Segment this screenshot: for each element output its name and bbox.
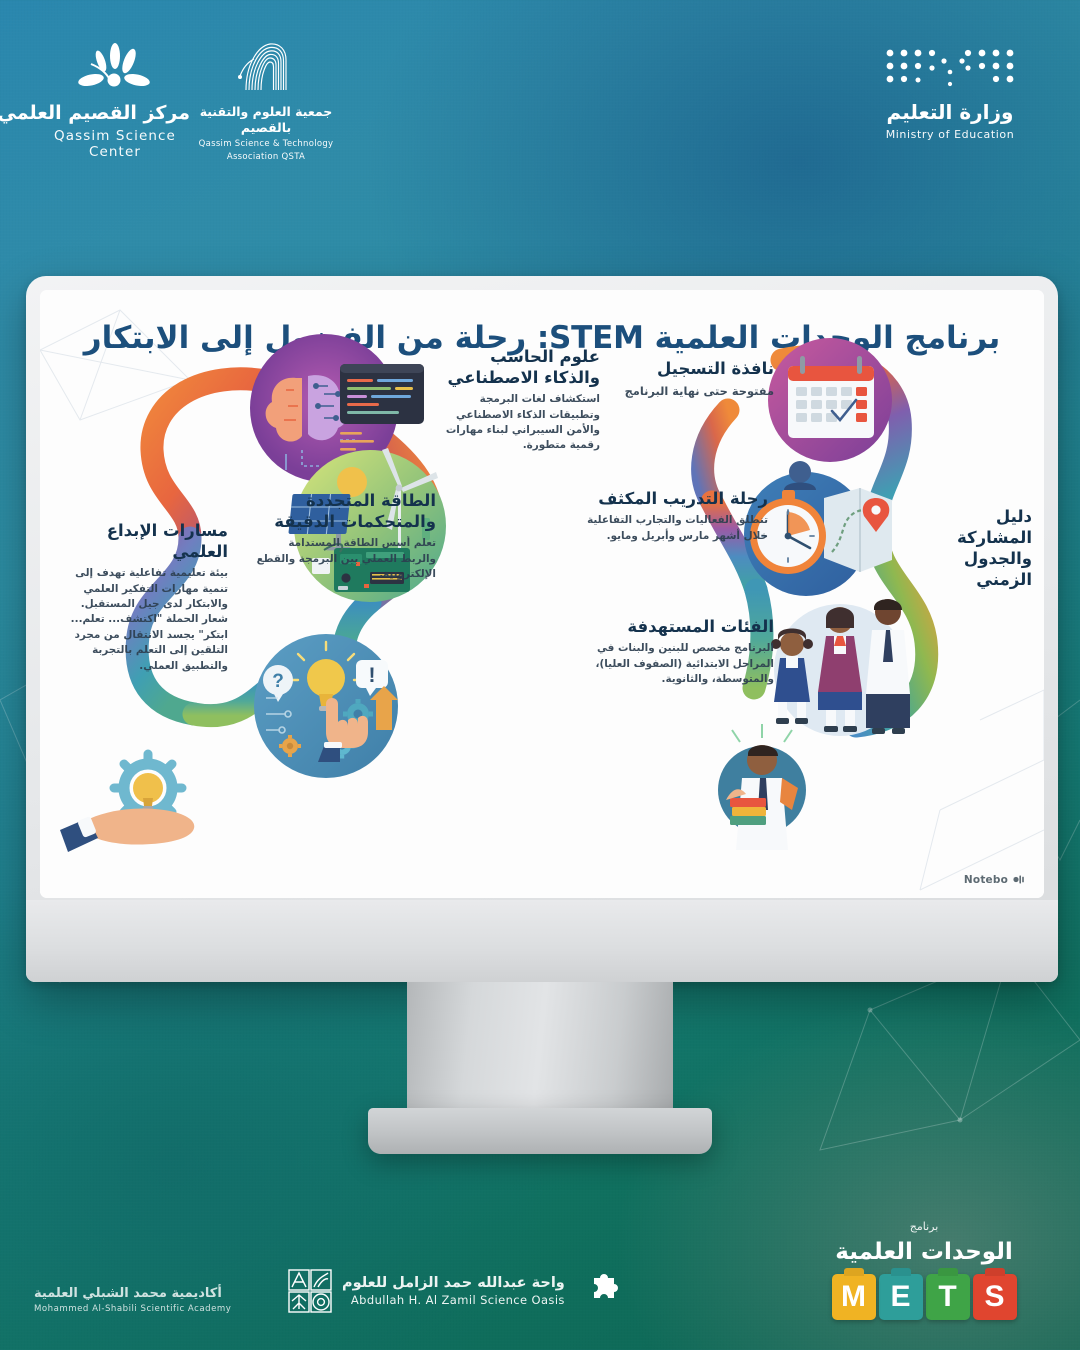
node-computer-science: علوم الحاسب والذكاء الاصطناعي استكشاف لغ… xyxy=(430,346,600,454)
presentation-slide: برنامج الوحدات العلمية STEM: رحلة من الف… xyxy=(40,290,1044,898)
target-groups-heading: الفئات المستهدفة xyxy=(588,616,774,637)
node-renewable-energy: الطاقة المتجددة والمتحكمات الدقيقة تعلم … xyxy=(250,490,436,582)
book-stack xyxy=(730,798,766,825)
svg-text:!: ! xyxy=(369,664,376,687)
computer-science-heading: علوم الحاسب والذكاء الاصطناعي xyxy=(430,346,600,388)
stem-block-s: S xyxy=(973,1274,1017,1320)
node-illustration-student-books xyxy=(718,724,806,850)
training-body: تنطلق الفعاليات والتجارب التفاعلية خلال … xyxy=(560,513,768,544)
header-logo-bar: مركز القصيم العلمي Qassim Science Center… xyxy=(0,0,1080,180)
qsta-label-en: Qassim Science & Technology Association … xyxy=(196,138,336,164)
participation-guide-heading: دليل المشاركة والجدول الزمني xyxy=(920,506,1032,590)
moe-label-ar: وزارة التعليم xyxy=(860,100,1040,125)
monitor-stand-base xyxy=(368,1108,712,1154)
logo-qsta: جمعية العلوم والتقنية بالقصيم Qassim Sci… xyxy=(196,38,336,164)
notebooklm-icon xyxy=(1013,873,1026,886)
qsta-label-ar: جمعية العلوم والتقنية بالقصيم xyxy=(196,104,336,135)
training-heading: رحلة التدريب المكثف xyxy=(560,488,768,509)
target-groups-body: البرنامج مخصص للبنين والبنات في المراحل … xyxy=(588,641,774,687)
svg-text:?: ? xyxy=(272,671,284,692)
notebooklm-label: Notebo xyxy=(964,874,1008,886)
qsc-label-ar: مركز القصيم العلمي xyxy=(40,102,190,126)
monitor-chin xyxy=(26,900,1058,982)
logo-ministry-of-education: وزارة التعليم Ministry of Education xyxy=(860,44,1040,141)
computer-science-body: استكشاف لغات البرمجة وتطبيقات الذكاء الا… xyxy=(430,392,600,454)
qsc-label-en: Qassim Science Center xyxy=(40,128,190,160)
monitor-screen: برنامج الوحدات العلمية STEM: رحلة من الف… xyxy=(40,290,1044,898)
puzzle-piece-icon xyxy=(575,1268,621,1314)
moe-dot-mark xyxy=(880,44,1020,96)
node-creative-paths: مسارات الإبداع العلمي بيئة تعليمية تفاعل… xyxy=(60,520,228,674)
stem-letter-t: T xyxy=(938,1280,956,1314)
renewable-energy-body: تعلم أسس الطاقة المستدامة والربط العملي … xyxy=(250,536,436,582)
oasis-pattern-icon xyxy=(288,1269,332,1313)
logo-zamil-science-oasis: واحة عبدالله حمد الزامل للعلوم Abdullah … xyxy=(288,1268,621,1314)
imac-monitor: برنامج الوحدات العلمية STEM: رحلة من الف… xyxy=(26,276,1058,982)
node-target-groups: الفئات المستهدفة البرنامج مخصص للبنين وا… xyxy=(588,616,774,687)
stem-letter-s: S xyxy=(985,1280,1005,1314)
stem-block-e: E xyxy=(879,1274,923,1320)
qassim-science-center-mark xyxy=(75,42,155,98)
stem-letter-blocks: S T E M xyxy=(804,1274,1044,1320)
stem-block-m: M xyxy=(832,1274,876,1320)
node-illustration-target-groups xyxy=(771,599,910,736)
node-registration-window: نافذة التسجيل مفتوحة حتى نهاية البرنامج xyxy=(606,358,774,400)
creative-paths-body: بيئة تعليمية تفاعلية تهدف إلى تنمية مهار… xyxy=(60,566,228,674)
stem-letter-e: E xyxy=(891,1280,911,1314)
qsta-mark xyxy=(230,38,302,100)
program-name-ar: الوحدات العلمية xyxy=(804,1239,1044,1265)
stem-letter-m: M xyxy=(841,1280,866,1314)
oasis-label-en: Abdullah H. Al Zamil Science Oasis xyxy=(342,1293,565,1307)
node-illustration-registration xyxy=(768,338,892,462)
node-participation-guide: دليل المشاركة والجدول الزمني xyxy=(920,506,1032,590)
creative-paths-heading: مسارات الإبداع العلمي xyxy=(60,520,228,562)
node-intensive-training: رحلة التدريب المكثف تنطلق الفعاليات والت… xyxy=(560,488,768,544)
notebooklm-watermark: Notebo xyxy=(964,873,1026,886)
monitor-stand-neck xyxy=(407,982,673,1110)
stem-block-t: T xyxy=(926,1274,970,1320)
oasis-label-ar: واحة عبدالله حمد الزامل للعلوم xyxy=(342,1275,565,1291)
program-stem-logo: برنامج الوحدات العلمية S T E M xyxy=(804,1220,1044,1320)
node-illustration-innovation-hand xyxy=(60,754,194,852)
calendar-icon xyxy=(788,356,874,438)
map-icon xyxy=(824,488,892,572)
renewable-energy-heading: الطاقة المتجددة والمتحكمات الدقيقة xyxy=(250,490,436,532)
moe-label-en: Ministry of Education xyxy=(860,128,1040,141)
footer-logo-bar: أكاديمية محمد الشبلي العلمية Mohammed Al… xyxy=(0,1150,1080,1350)
program-prefix: برنامج xyxy=(804,1220,1044,1233)
node-illustration-experiential-learning: ? ! xyxy=(254,634,398,778)
logo-qassim-science-center: مركز القصيم العلمي Qassim Science Center xyxy=(40,42,190,160)
registration-body: مفتوحة حتى نهاية البرنامج xyxy=(606,383,774,400)
registration-heading: نافذة التسجيل xyxy=(606,358,774,379)
